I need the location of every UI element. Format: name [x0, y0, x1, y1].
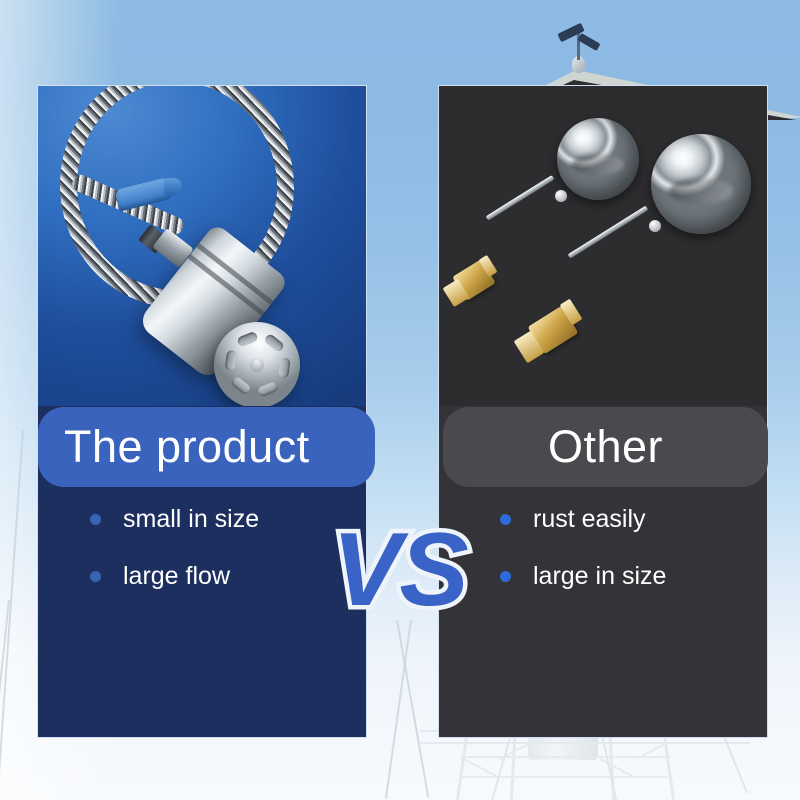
- feature-label: small in size: [123, 505, 259, 534]
- title-text-other: Other: [548, 421, 663, 473]
- tower-lattice: [600, 758, 633, 777]
- cap-hub: [247, 355, 267, 375]
- cap-slot: [263, 333, 285, 353]
- tower-lattice: [464, 758, 497, 777]
- feature-label: rust easily: [533, 505, 646, 534]
- cap-slot: [278, 357, 291, 378]
- bullet-dot-icon: [500, 571, 511, 582]
- cap-slot: [225, 350, 238, 371]
- comparison-infographic: The product Other small in size large fl…: [0, 0, 800, 800]
- list-item: rust easily: [500, 505, 666, 534]
- feature-label: large flow: [123, 562, 230, 591]
- cap-slot: [236, 331, 258, 348]
- feature-list-product: small in size large flow: [90, 505, 259, 591]
- bullet-dot-icon: [500, 514, 511, 525]
- versus-badge: VS: [332, 518, 467, 622]
- product-photo-right: [439, 86, 767, 406]
- title-text-product: The product: [64, 421, 310, 473]
- float-rod: [486, 175, 555, 221]
- ball-joint: [555, 190, 567, 202]
- feature-label: large in size: [533, 562, 666, 591]
- tower-lattice: [462, 776, 668, 778]
- bullet-dot-icon: [90, 514, 101, 525]
- float-ball: [557, 118, 639, 200]
- weather-vane-tail-icon: [577, 33, 600, 51]
- cap-slot: [257, 381, 279, 398]
- list-item: small in size: [90, 505, 259, 534]
- cap-slot: [230, 375, 252, 395]
- ball-joint: [649, 220, 661, 232]
- float-rod: [568, 206, 649, 259]
- list-item: large in size: [500, 562, 666, 591]
- product-photo-left: [38, 86, 366, 406]
- float-ball: [651, 134, 751, 234]
- title-pill-other: Other: [443, 407, 768, 487]
- title-pill-product: The product: [38, 407, 375, 487]
- list-item: large flow: [90, 562, 259, 591]
- feature-list-other: rust easily large in size: [500, 505, 666, 591]
- bullet-dot-icon: [90, 571, 101, 582]
